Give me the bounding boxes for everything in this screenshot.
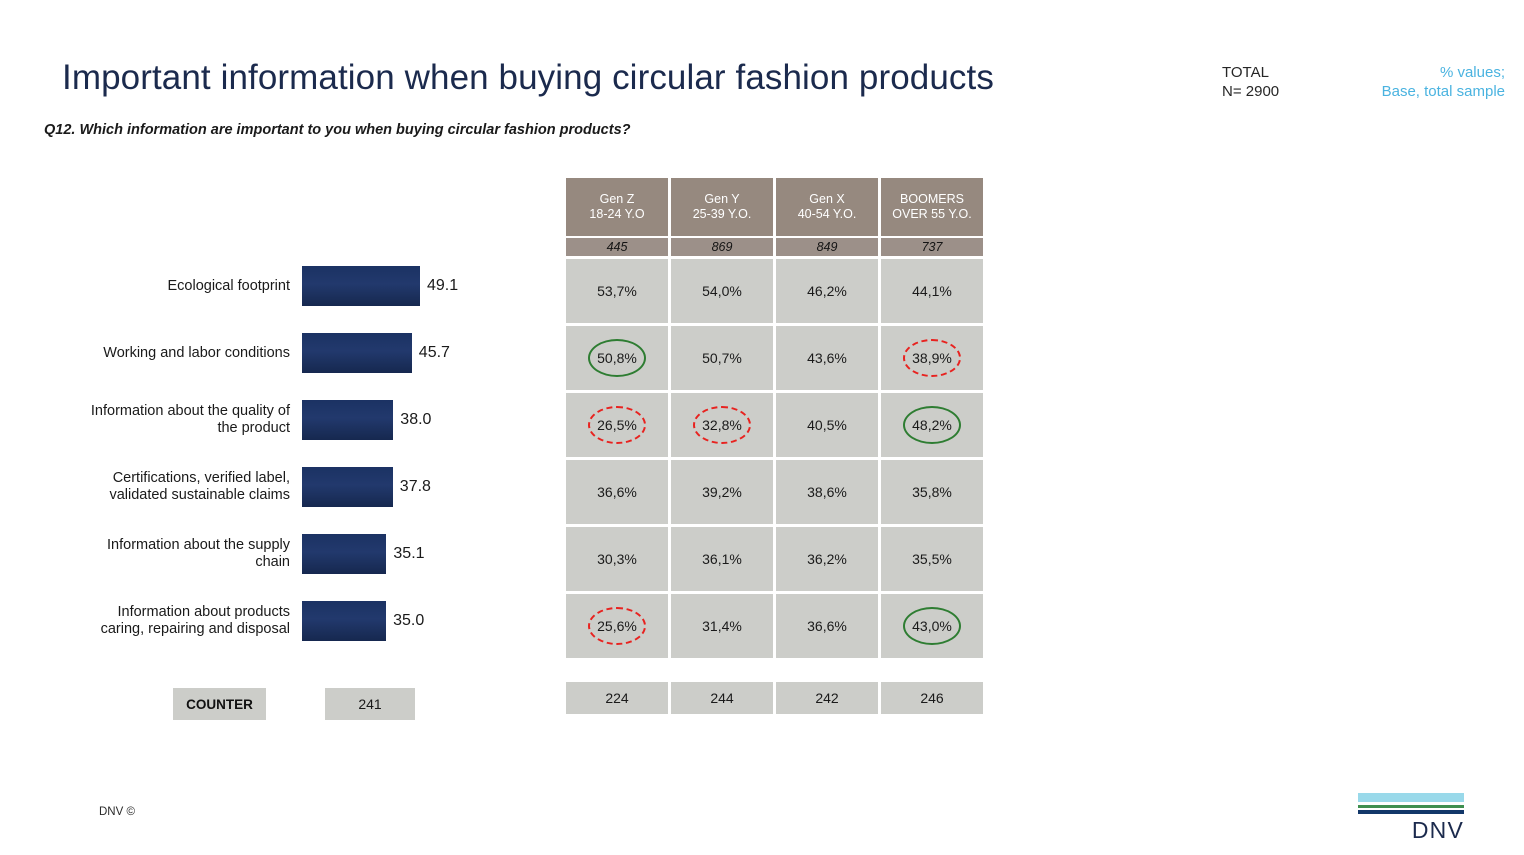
- table-base-cell: 737: [881, 238, 983, 256]
- bar-category-label-line: Working and labor conditions: [0, 345, 290, 362]
- table-cell: 36,2%: [776, 527, 878, 591]
- table-counter-cell: 246: [881, 682, 983, 714]
- bar-fill: [302, 601, 386, 641]
- bar-track: 49.1: [302, 266, 458, 306]
- bar-row: Information about the quality ofthe prod…: [0, 400, 520, 440]
- table-row: 36,6%39,2%38,6%35,8%: [566, 460, 983, 524]
- bar-category-label-line: Certifications, verified label,: [0, 470, 290, 487]
- table-row: 26,5%32,8%40,5%48,2%: [566, 393, 983, 457]
- table-row: 25,6%31,4%36,6%43,0%: [566, 594, 983, 658]
- column-header-text: Gen Y25-39 Y.O.: [693, 192, 752, 222]
- table-cell: 35,8%: [881, 460, 983, 524]
- bar-fill: [302, 534, 386, 574]
- bar-fill: [302, 467, 393, 507]
- column-header-text: BOOMERSOVER 55 Y.O.: [892, 192, 971, 222]
- bar-track: 45.7: [302, 333, 450, 373]
- table-cell: 50,7%: [671, 326, 773, 390]
- bar-track: 37.8: [302, 467, 431, 507]
- table-cell: 38,9%: [881, 326, 983, 390]
- logo-bar-green: [1358, 805, 1464, 808]
- dnv-logo: DNV: [1358, 793, 1464, 844]
- counter-value: 241: [325, 688, 415, 720]
- table-cell: 43,6%: [776, 326, 878, 390]
- bar-category-label: Information about the quality ofthe prod…: [0, 403, 302, 437]
- bar-category-label-line: Information about products: [0, 604, 290, 621]
- bar-value-label: 49.1: [427, 277, 458, 295]
- bar-fill: [302, 333, 412, 373]
- table-cell: 40,5%: [776, 393, 878, 457]
- logo-bar-lightblue: [1358, 793, 1464, 802]
- table-column-header: Gen Y25-39 Y.O.: [671, 178, 773, 236]
- column-header-age: 40-54 Y.O.: [798, 207, 857, 222]
- table-cell-value: 26,5%: [597, 417, 637, 433]
- table-base-cell: 849: [776, 238, 878, 256]
- bar-category-label: Certifications, verified label,validated…: [0, 470, 302, 504]
- table-cell: 50,8%: [566, 326, 668, 390]
- base-note-line1: % values;: [1215, 63, 1505, 82]
- base-note-block: % values; Base, total sample: [1215, 63, 1505, 101]
- table-cell: 54,0%: [671, 259, 773, 323]
- table-cell: 53,7%: [566, 259, 668, 323]
- table-cell-value: 46,2%: [807, 283, 847, 299]
- table-counter-row: 224244242246: [566, 682, 983, 714]
- bar-fill: [302, 400, 393, 440]
- table-cell-value: 36,6%: [597, 484, 637, 500]
- column-header-text: Gen Z18-24 Y.O: [589, 192, 644, 222]
- bar-track: 35.1: [302, 534, 425, 574]
- table-cell-value: 38,9%: [912, 350, 952, 366]
- table-column-header: Gen Z18-24 Y.O: [566, 178, 668, 236]
- bar-row: Certifications, verified label,validated…: [0, 467, 520, 507]
- table-body: 53,7%54,0%46,2%44,1%50,8%50,7%43,6%38,9%…: [566, 259, 983, 658]
- table-cell-value: 36,6%: [807, 618, 847, 634]
- table-cell: 36,6%: [776, 594, 878, 658]
- bar-row: Working and labor conditions45.7: [0, 333, 520, 373]
- bar-track: 38.0: [302, 400, 431, 440]
- bar-value-label: 45.7: [419, 344, 450, 362]
- table-row: 50,8%50,7%43,6%38,9%: [566, 326, 983, 390]
- table-column-header: BOOMERSOVER 55 Y.O.: [881, 178, 983, 236]
- generation-table: Gen Z18-24 Y.OGen Y25-39 Y.O.Gen X40-54 …: [566, 178, 983, 714]
- table-cell: 48,2%: [881, 393, 983, 457]
- column-header-name: Gen Y: [693, 192, 752, 207]
- table-column-header: Gen X40-54 Y.O.: [776, 178, 878, 236]
- bar-track: 35.0: [302, 601, 424, 641]
- column-header-age: 18-24 Y.O: [589, 207, 644, 222]
- table-cell-value: 32,8%: [702, 417, 742, 433]
- bar-category-label-line: Information about the supply: [0, 537, 290, 554]
- bar-category-label-line: the product: [0, 420, 290, 437]
- table-base-cell: 445: [566, 238, 668, 256]
- table-cell: 26,5%: [566, 393, 668, 457]
- counter-label: COUNTER: [173, 688, 266, 720]
- bar-category-label-line: Information about the quality of: [0, 403, 290, 420]
- table-cell: 43,0%: [881, 594, 983, 658]
- table-header-row: Gen Z18-24 Y.OGen Y25-39 Y.O.Gen X40-54 …: [566, 178, 983, 236]
- table-cell-value: 25,6%: [597, 618, 637, 634]
- bar-category-label-line: chain: [0, 554, 290, 571]
- bar-row: Ecological footprint49.1: [0, 266, 520, 306]
- table-cell-value: 39,2%: [702, 484, 742, 500]
- logo-bar-navy: [1358, 810, 1464, 814]
- bar-value-label: 35.1: [393, 545, 424, 563]
- bar-category-label-line: caring, repairing and disposal: [0, 621, 290, 638]
- table-cell-value: 31,4%: [702, 618, 742, 634]
- table-cell: 32,8%: [671, 393, 773, 457]
- table-cell-value: 44,1%: [912, 283, 952, 299]
- table-counter-cell: 224: [566, 682, 668, 714]
- table-counter-cell: 242: [776, 682, 878, 714]
- table-cell-value: 36,2%: [807, 551, 847, 567]
- table-cell-value: 40,5%: [807, 417, 847, 433]
- footer-copyright: DNV ©: [99, 806, 135, 818]
- table-cell-value: 38,6%: [807, 484, 847, 500]
- column-header-age: 25-39 Y.O.: [693, 207, 752, 222]
- table-cell-value: 43,6%: [807, 350, 847, 366]
- bar-category-label: Working and labor conditions: [0, 345, 302, 362]
- base-note-line2: Base, total sample: [1215, 82, 1505, 101]
- table-cell-value: 35,8%: [912, 484, 952, 500]
- table-cell-value: 43,0%: [912, 618, 952, 634]
- table-row: 53,7%54,0%46,2%44,1%: [566, 259, 983, 323]
- table-cell: 36,6%: [566, 460, 668, 524]
- table-cell-value: 50,7%: [702, 350, 742, 366]
- table-cell-value: 30,3%: [597, 551, 637, 567]
- table-cell-value: 53,7%: [597, 283, 637, 299]
- bar-value-label: 37.8: [400, 478, 431, 496]
- table-counter-cell: 244: [671, 682, 773, 714]
- table-cell-value: 50,8%: [597, 350, 637, 366]
- table-cell: 30,3%: [566, 527, 668, 591]
- bar-row: Information about the supplychain35.1: [0, 534, 520, 574]
- logo-wordmark: DNV: [1358, 817, 1464, 844]
- table-cell-value: 54,0%: [702, 283, 742, 299]
- table-cell-value: 35,5%: [912, 551, 952, 567]
- table-cell: 38,6%: [776, 460, 878, 524]
- bar-fill: [302, 266, 420, 306]
- table-cell: 31,4%: [671, 594, 773, 658]
- column-header-name: BOOMERS: [892, 192, 971, 207]
- bar-chart: Ecological footprint49.1Working and labo…: [0, 255, 520, 655]
- table-cell: 35,5%: [881, 527, 983, 591]
- bar-value-label: 35.0: [393, 612, 424, 630]
- table-cell: 46,2%: [776, 259, 878, 323]
- column-header-age: OVER 55 Y.O.: [892, 207, 971, 222]
- table-cell: 25,6%: [566, 594, 668, 658]
- page-title: Important information when buying circul…: [62, 58, 994, 98]
- column-header-name: Gen X: [798, 192, 857, 207]
- bar-category-label: Ecological footprint: [0, 278, 302, 295]
- table-row: 30,3%36,1%36,2%35,5%: [566, 527, 983, 591]
- table-base-row: 445869849737: [566, 238, 983, 256]
- bar-category-label-line: validated sustainable claims: [0, 487, 290, 504]
- bar-value-label: 38.0: [400, 411, 431, 429]
- column-header-name: Gen Z: [589, 192, 644, 207]
- bar-category-label: Information about productscaring, repair…: [0, 604, 302, 638]
- bar-category-label: Information about the supplychain: [0, 537, 302, 571]
- table-base-cell: 869: [671, 238, 773, 256]
- table-cell-value: 36,1%: [702, 551, 742, 567]
- table-cell: 39,2%: [671, 460, 773, 524]
- table-cell-value: 48,2%: [912, 417, 952, 433]
- bar-row: Information about productscaring, repair…: [0, 601, 520, 641]
- question-text: Q12. Which information are important to …: [44, 122, 631, 138]
- table-cell: 44,1%: [881, 259, 983, 323]
- bar-category-label-line: Ecological footprint: [0, 278, 290, 295]
- table-cell: 36,1%: [671, 527, 773, 591]
- column-header-text: Gen X40-54 Y.O.: [798, 192, 857, 222]
